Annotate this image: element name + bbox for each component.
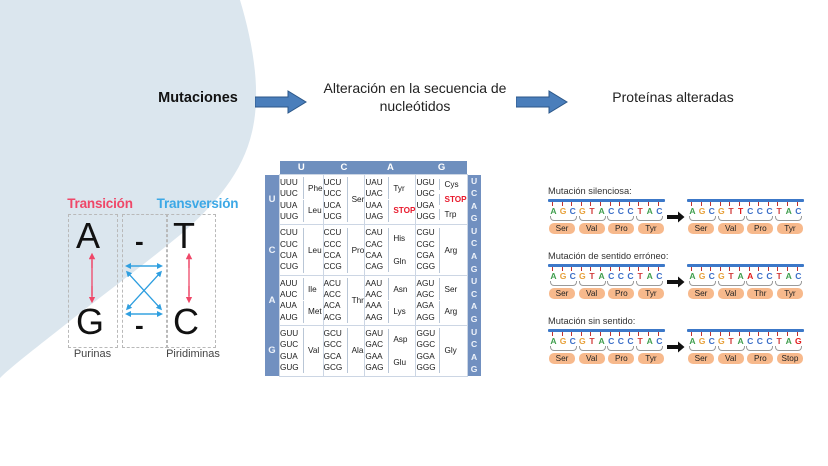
dna-base: C (755, 271, 764, 281)
codon-triplet: UGC (416, 188, 436, 199)
codon-triplet: GCG (324, 362, 344, 373)
amino-acid-label: Phe (303, 177, 323, 199)
codon-corner (265, 161, 280, 175)
amino-acid-pill: Tyr (777, 223, 803, 234)
codon-list: CGUCGCCGACGG (416, 227, 436, 273)
dna-base: C (794, 271, 803, 281)
dna-base: A (736, 271, 745, 281)
amino-acid-pill: Pro (608, 353, 634, 364)
dna-base: G (578, 336, 587, 346)
amino-acid-label: Ser (439, 278, 457, 300)
dna-ticks (548, 267, 665, 271)
amino-acid-label: Arg (439, 228, 457, 273)
codon-cell-CU: CUUCUCCUACUGLeu (280, 225, 324, 275)
codon-triplet: UUG (280, 211, 300, 222)
dna-base: T (588, 336, 597, 346)
codon-triplet: UCG (324, 211, 344, 222)
amino-acid-label: Leu (303, 200, 323, 222)
codon-triplet: ACA (324, 300, 344, 311)
mutation-arrow-icon (665, 211, 687, 223)
transition-arrows (50, 196, 260, 371)
amino-acid-pill: Val (718, 353, 744, 364)
dna-base: G (698, 271, 707, 281)
amino-acid-group: AspGlu (388, 328, 407, 373)
dna-sequence: AGCGTACCCTAC (548, 336, 665, 346)
dna-ticks (687, 202, 804, 206)
codon-triplet: GCA (324, 351, 344, 362)
codon-triplet: GAC (365, 339, 385, 350)
amino-acid-label: Ser (347, 177, 365, 222)
third-base-C: C (468, 338, 481, 351)
mutation-title: Mutación silenciosa: (548, 186, 820, 196)
dna-base: A (688, 271, 697, 281)
third-base-U: U (468, 326, 481, 339)
amino-acid-label: Lys (388, 301, 407, 323)
codon-list: GUUGUCGUAGUG (280, 328, 300, 374)
flow-step-proteinas: Proteínas alteradas (558, 89, 788, 107)
codon-list: UUUUUCUUAUUG (280, 177, 300, 223)
genetic-code-table: UCAGUUUUUUCUUAUUGPheLeuUCUUCCUCAUCGSerUA… (265, 161, 481, 377)
codon-triplet: UGG (416, 211, 436, 222)
amino-acid-pill: Ser (688, 223, 714, 234)
codon-triplet: UGU (416, 177, 436, 188)
codon-brace (550, 346, 577, 351)
codon-brace (636, 281, 663, 286)
codon-triplet: CAC (365, 239, 385, 250)
amino-acid-pill: Ser (549, 288, 575, 299)
codon-brace (718, 346, 745, 351)
codon-brace (579, 281, 606, 286)
codon-cell-GU: GUUGUCGUAGUGVal (280, 326, 324, 376)
third-base-C: C (468, 288, 481, 301)
codon-triplet: UCA (324, 200, 344, 211)
amino-acid-label: Asp (388, 329, 407, 351)
dna-base: C (746, 206, 755, 216)
dna-base: C (765, 271, 774, 281)
codon-triplet: UCC (324, 188, 344, 199)
codon-list: AUUAUCAUAAUG (280, 278, 300, 324)
amino-acid-label: Ala (347, 328, 364, 373)
protein-pills: SerValProTyr (548, 288, 665, 299)
mutation-arrow-icon (665, 276, 687, 288)
codon-triplet: ACC (324, 289, 344, 300)
codon-triplet: CAA (365, 250, 385, 261)
amino-acid-label: Ile (303, 278, 322, 300)
third-base-G: G (468, 263, 481, 276)
amino-acid-label: Pro (347, 228, 365, 273)
dna-base: C (655, 271, 664, 281)
codon-triplet: GCC (324, 339, 344, 350)
third-base-A: A (468, 351, 481, 364)
amino-acid-pill: Pro (608, 223, 634, 234)
dna-base: A (645, 271, 654, 281)
codon-list: AGUAGCAGAAGG (416, 278, 436, 324)
dna-ticks (687, 267, 804, 271)
dna-base: T (588, 271, 597, 281)
dna-base: G (578, 271, 587, 281)
codon-brace (607, 281, 634, 286)
codon-list: AAUAACAAAAAG (365, 278, 385, 324)
codon-cell-AA: AAUAACAAAAAGAsnLys (365, 275, 416, 325)
codon-brace (775, 281, 802, 286)
codon-brace (689, 281, 716, 286)
amino-acid-label: Arg (439, 301, 457, 323)
amino-acid-label: Gly (439, 328, 456, 373)
codon-braces (687, 281, 804, 286)
codon-row-G: GGUUGUCGUAGUGValGCUGCCGCAGCGAlaGAUGACGAA… (265, 326, 481, 376)
codon-cell-GC: GCUGCCGCAGCGAla (323, 326, 365, 376)
amino-acid-pill: Tyr (638, 353, 664, 364)
codon-triplet: GUU (280, 328, 300, 339)
codon-brace (689, 346, 716, 351)
mutated-base: A (746, 271, 755, 281)
codon-triplet: UAG (365, 211, 385, 222)
dna-base: A (688, 206, 697, 216)
codon-triplet: GUC (280, 339, 300, 350)
dna-base: C (655, 336, 664, 346)
dna-base: C (755, 336, 764, 346)
codon-triplet: AAG (365, 312, 385, 323)
amino-acid-pill: Ser (688, 288, 714, 299)
codon-triplet: GAU (365, 328, 385, 339)
sequence-after: AGCGTTCCCTACSerValProTyr (687, 199, 804, 234)
amino-acid-group: Val (303, 328, 319, 373)
dna-base: C (626, 336, 635, 346)
amino-acid-pill: Tyr (638, 288, 664, 299)
third-base-U: U (468, 275, 481, 288)
third-base-G: G (468, 212, 481, 225)
amino-acid-label: His (388, 228, 406, 250)
codon-brace (775, 346, 802, 351)
codon-triplet: GAG (365, 362, 385, 373)
codon-cell-GG: GGUGGCGGAGGGGly (416, 326, 467, 376)
codon-triplet: AUG (280, 312, 300, 323)
third-base-U: U (468, 175, 481, 188)
dna-ticks (687, 332, 804, 336)
codon-triplet: GGU (416, 328, 436, 339)
dna-base: A (784, 336, 793, 346)
codon-brace (579, 216, 606, 221)
codon-list: UGUUGCUGAUGG (416, 177, 436, 223)
codon-col-header-U: U (280, 161, 324, 175)
mutated-base: T (736, 206, 745, 216)
dna-base: C (755, 206, 764, 216)
codon-brace (746, 281, 773, 286)
codon-row-A: AAUUAUCAUAAUGIleMetACUACCACAACGThrAAUAAC… (265, 275, 481, 325)
dna-base: T (775, 336, 784, 346)
dna-sequence: AGCGTACCCTAC (548, 271, 665, 281)
codon-cell-UC: UCUUCCUCAUCGSer (323, 175, 365, 225)
codon-list: ACUACCACAACG (324, 278, 344, 324)
codon-brace (636, 346, 663, 351)
mutation-examples-panel: Mutación silenciosa:AGCGTACCCTACSerValPr… (548, 186, 820, 381)
third-base-U: U (468, 225, 481, 238)
codon-col-header-C: C (323, 161, 365, 175)
codon-brace (718, 281, 745, 286)
amino-acid-pill: Val (579, 288, 605, 299)
amino-acid-group: Ala (347, 328, 364, 373)
codon-header-row: UCAG (265, 161, 481, 175)
amino-acid-pill: Pro (608, 288, 634, 299)
codon-cell-CG: CGUCGCCGACGGArg (416, 225, 467, 275)
codon-triplet: UUA (280, 200, 300, 211)
codon-list: GGUGGCGGAGGG (416, 328, 436, 374)
dna-base: C (607, 271, 616, 281)
sequence-after: AGCGTACCCTAGSerValProStop (687, 329, 804, 364)
codon-triplet: CUA (280, 250, 300, 261)
codon-triplet: CCU (324, 227, 344, 238)
codon-cell-CC: CCUCCCCCACCGPro (323, 225, 365, 275)
dna-base: C (707, 336, 716, 346)
amino-acid-pill: Ser (549, 353, 575, 364)
codon-brace (550, 216, 577, 221)
codon-row-header-G: G (265, 326, 280, 376)
amino-acid-label: Leu (303, 228, 322, 273)
sequence-after: AGCGTAACCTACSerValThrTyr (687, 264, 804, 299)
dna-base: T (636, 206, 645, 216)
codon-triplet: CCC (324, 239, 344, 250)
amino-acid-label: Gln (388, 250, 406, 272)
amino-acid-label: Val (303, 328, 319, 373)
dna-ticks (548, 332, 665, 336)
third-base-C: C (468, 237, 481, 250)
codon-row-U: UUUUUUCUUAUUGPheLeuUCUUCCUCAUCGSerUAUUAC… (265, 175, 481, 225)
amino-acid-group: Leu (303, 228, 322, 273)
amino-acid-label: Glu (388, 351, 407, 373)
codon-triplet: AUA (280, 300, 300, 311)
codon-braces (548, 281, 665, 286)
dna-base: A (645, 336, 654, 346)
amino-acid-label: Cys (439, 179, 466, 190)
dna-base: C (568, 206, 577, 216)
dna-base: G (717, 336, 726, 346)
codon-brace (636, 216, 663, 221)
amino-acid-pill: Ser (688, 353, 714, 364)
codon-cell-GA: GAUGACGAAGAGAspGlu (365, 326, 416, 376)
codon-triplet: CGG (416, 261, 436, 272)
codon-list: UCUUCCUCAUCG (324, 177, 344, 223)
amino-acid-label: Asn (388, 278, 407, 300)
codon-cell-CA: CAUCACCAACAGHisGln (365, 225, 416, 275)
amino-acid-group: IleMet (303, 278, 322, 323)
codon-cell-UU: UUUUUCUUAUUGPheLeu (280, 175, 324, 225)
amino-acid-group: PheLeu (303, 177, 323, 222)
codon-brace (746, 346, 773, 351)
codon-triplet: ACU (324, 278, 344, 289)
amino-acid-group: Ser (347, 177, 365, 222)
codon-brace (718, 216, 745, 221)
third-base-A: A (468, 200, 481, 213)
codon-triplet: AGG (416, 312, 436, 323)
amino-acid-pill: Val (718, 288, 744, 299)
third-base-G: G (468, 313, 481, 326)
codon-cell-UA: UAUUACUAAUAGTyrSTOP (365, 175, 416, 225)
codon-triplet: UAC (365, 188, 385, 199)
codon-triplet: UAA (365, 200, 385, 211)
codon-col-header-G: G (416, 161, 467, 175)
dna-base: C (765, 206, 774, 216)
codon-triplet: UUC (280, 188, 300, 199)
protein-pills: SerValProStop (687, 353, 804, 364)
codon-triplet: AUC (280, 289, 300, 300)
protein-pills: SerValProTyr (548, 353, 665, 364)
third-base-column: UCAG (467, 326, 481, 376)
protein-pills: SerValProTyr (548, 223, 665, 234)
dna-base: C (765, 336, 774, 346)
codon-col-header-A: A (365, 161, 416, 175)
codon-triplet: GCU (324, 328, 344, 339)
codon-brace (746, 216, 773, 221)
amino-acid-group: Arg (439, 228, 457, 273)
dna-base: A (549, 271, 558, 281)
codon-triplet: CGU (416, 227, 436, 238)
dna-sequence: AGCGTACCCTAC (548, 206, 665, 216)
codon-triplet: UCU (324, 177, 344, 188)
dna-sequence: AGCGTAACCTAC (687, 271, 804, 281)
codon-triplet: UGA (416, 200, 436, 211)
dna-base: C (607, 206, 616, 216)
amino-acid-pill: Ser (549, 223, 575, 234)
codon-triplet: CCA (324, 250, 344, 261)
amino-acid-pill: Stop (777, 353, 803, 364)
codon-brace (579, 346, 606, 351)
codon-triplet: AAU (365, 278, 385, 289)
amino-acid-group: CysSTOPTrp (439, 177, 466, 222)
third-base-G: G (468, 363, 481, 376)
dna-base: G (559, 271, 568, 281)
dna-base: C (626, 271, 635, 281)
codon-triplet: CUC (280, 239, 300, 250)
dna-base: G (559, 206, 568, 216)
codon-brace (550, 281, 577, 286)
amino-acid-pill: Tyr (777, 288, 803, 299)
dna-base: C (607, 336, 616, 346)
codon-triplet: GGG (416, 362, 436, 373)
dna-base: C (616, 336, 625, 346)
piridiminas-label: Piridiminas (148, 348, 238, 360)
flow-step-alteracion: Alteración en la secuencia de nucleótido… (300, 80, 530, 115)
dna-base: A (597, 336, 606, 346)
mutation-example-3: Mutación sin sentido:AGCGTACCCTACSerValP… (548, 316, 820, 364)
dna-base: A (597, 206, 606, 216)
dna-base: A (784, 206, 793, 216)
dna-base: C (707, 206, 716, 216)
codon-triplet: ACG (324, 312, 344, 323)
dna-base: C (626, 206, 635, 216)
amino-acid-pill: Val (579, 223, 605, 234)
codon-triplet: GUA (280, 351, 300, 362)
codon-corner-right (467, 161, 481, 175)
purinas-label: Purinas (55, 348, 130, 360)
mutation-example-1: Mutación silenciosa:AGCGTACCCTACSerValPr… (548, 186, 820, 234)
mutation-title: Mutación sin sentido: (548, 316, 820, 326)
dna-base: T (727, 206, 736, 216)
amino-acid-pill: Pro (747, 223, 773, 234)
transition-transversion-diagram: Transición Transversión A G T C - - (50, 196, 260, 371)
dna-sequence: AGCGTACCCTAG (687, 336, 804, 346)
dna-base: A (688, 336, 697, 346)
dna-base: T (775, 206, 784, 216)
codon-brace (607, 216, 634, 221)
dna-base: T (636, 336, 645, 346)
codon-braces (548, 346, 665, 351)
codon-triplet: AAC (365, 289, 385, 300)
third-base-column: UCAG (467, 225, 481, 275)
mutation-example-2: Mutación de sentido erróneo:AGCGTACCCTAC… (548, 251, 820, 299)
codon-triplet: UAU (365, 177, 385, 188)
dna-base: A (597, 271, 606, 281)
codon-list: UAUUACUAAUAG (365, 177, 385, 223)
codon-brace (607, 346, 634, 351)
codon-cell-AU: AUUAUCAUAAUGIleMet (280, 275, 324, 325)
amino-acid-pill: Tyr (638, 223, 664, 234)
third-base-A: A (468, 250, 481, 263)
third-base-column: UCAG (467, 175, 481, 225)
codon-triplet: GUG (280, 362, 300, 373)
amino-acid-group: AsnLys (388, 278, 407, 323)
sequence-pair: AGCGTACCCTACSerValProTyrAGCGTACCCTAGSerV… (548, 329, 820, 364)
mutation-title: Mutación de sentido erróneo: (548, 251, 820, 261)
codon-braces (687, 216, 804, 221)
dna-base: A (645, 206, 654, 216)
amino-acid-pill: Val (579, 353, 605, 364)
codon-triplet: CAG (365, 261, 385, 272)
dna-base: G (698, 206, 707, 216)
codon-list: CCUCCCCCACCG (324, 227, 344, 273)
codon-cell-AC: ACUACCACAACGThr (323, 275, 365, 325)
amino-acid-group: HisGln (388, 228, 406, 273)
dna-base: G (717, 206, 726, 216)
dna-base: C (616, 206, 625, 216)
amino-acid-pill: Thr (747, 288, 773, 299)
third-base-C: C (468, 187, 481, 200)
codon-list: CUUCUCCUACUG (280, 227, 300, 273)
codon-triplet: GAA (365, 351, 385, 362)
codon-triplet: AUU (280, 278, 300, 289)
amino-acid-pill: Pro (747, 353, 773, 364)
process-flow: Mutaciones Alteración en la secuencia de… (0, 78, 828, 124)
codon-list: GCUGCCGCAGCG (324, 328, 344, 374)
codon-row-C: CCUUCUCCUACUGLeuCCUCCCCCACCGProCAUCACCAA… (265, 225, 481, 275)
dna-base: A (549, 206, 558, 216)
dna-base: C (568, 271, 577, 281)
dna-sequence: AGCGTTCCCTAC (687, 206, 804, 216)
amino-acid-group: SerArg (439, 278, 457, 323)
amino-acid-label: Met (303, 301, 322, 323)
dna-base: G (698, 336, 707, 346)
sequence-before: AGCGTACCCTACSerValProTyr (548, 199, 665, 234)
codon-row-header-A: A (265, 275, 280, 325)
codon-row-header-U: U (265, 175, 280, 225)
codon-triplet: GGA (416, 351, 436, 362)
codon-braces (548, 216, 665, 221)
codon-list: CAUCACCAACAG (365, 227, 385, 273)
codon-triplet: AGC (416, 289, 436, 300)
amino-acid-label: Trp (439, 209, 466, 220)
codon-triplet: GGC (416, 339, 436, 350)
codon-triplet: UUU (280, 177, 300, 188)
sequence-pair: AGCGTACCCTACSerValProTyrAGCGTTCCCTACSerV… (548, 199, 820, 234)
dna-base: T (727, 336, 736, 346)
codon-cell-AG: AGUAGCAGAAGGSerArg (416, 275, 467, 325)
codon-brace (689, 216, 716, 221)
dna-base: C (616, 271, 625, 281)
dna-base: G (717, 271, 726, 281)
dna-base: A (784, 271, 793, 281)
amino-acid-group: TyrSTOP (388, 177, 415, 222)
third-base-column: UCAG (467, 275, 481, 325)
codon-triplet: AAA (365, 300, 385, 311)
